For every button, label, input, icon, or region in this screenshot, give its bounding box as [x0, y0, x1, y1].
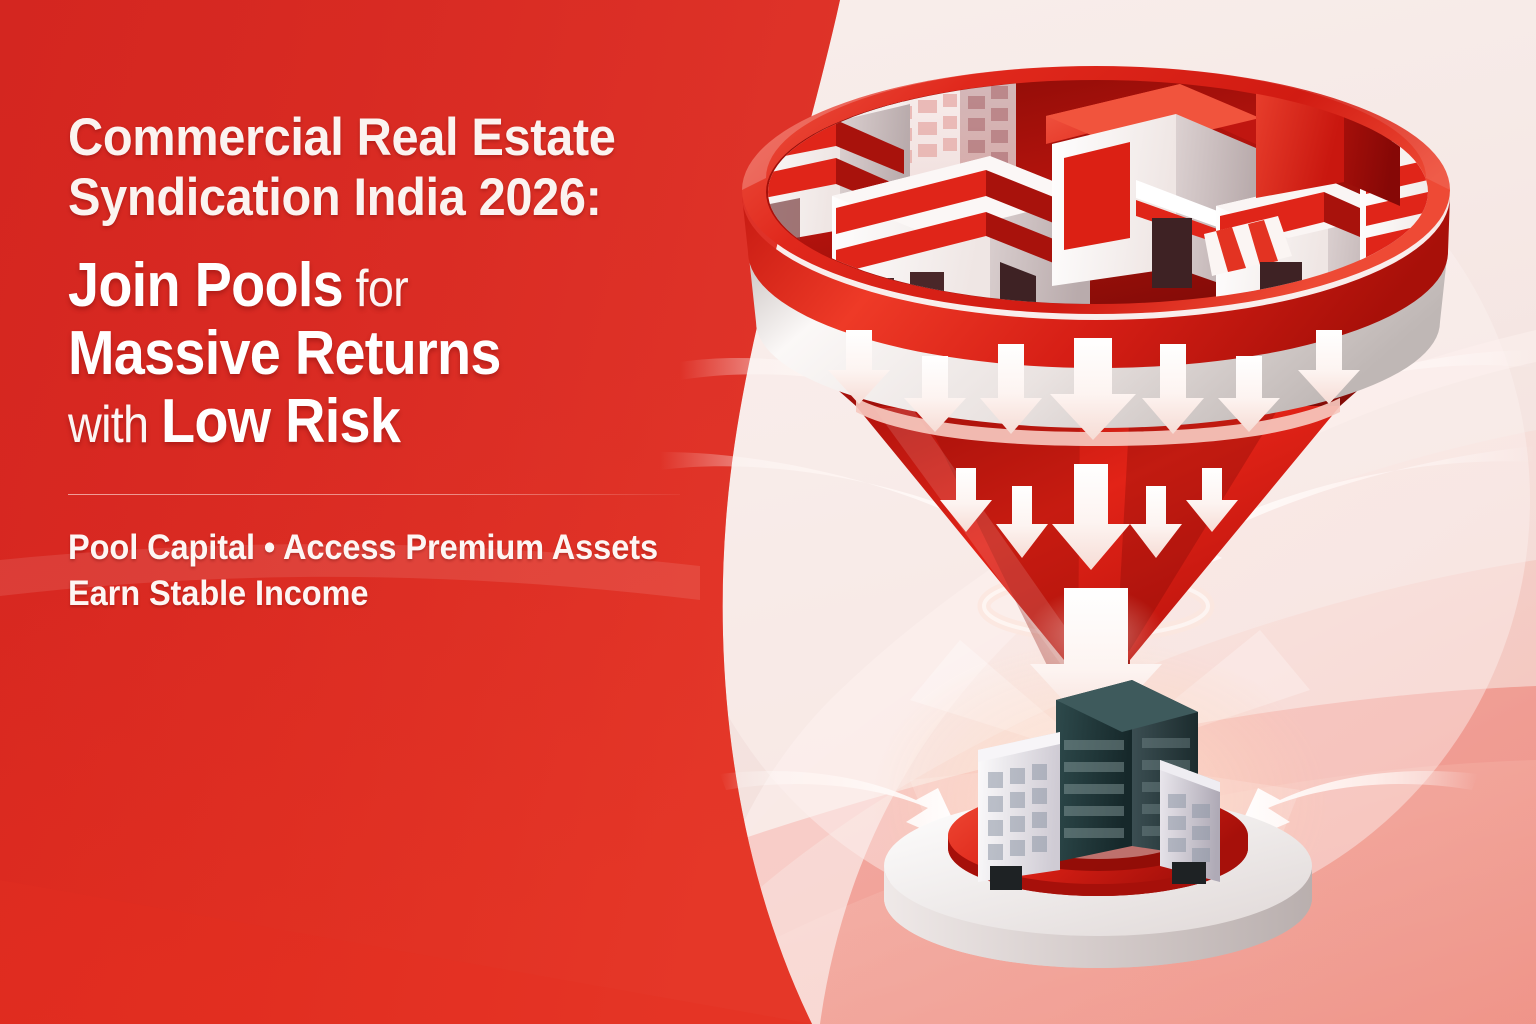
- headline-light-for: for: [356, 260, 408, 318]
- subtitle-block: Pool Capital • Access Premium Assets Ear…: [68, 525, 688, 616]
- headline-strong-massive-returns: Massive Returns: [68, 319, 501, 388]
- headline-strong-low-risk: Low Risk: [161, 387, 400, 456]
- subtitle-line-1: Pool Capital • Access Premium Assets: [68, 525, 645, 571]
- investment-funnel-illustration: [660, 0, 1536, 1024]
- headline-strong-join-pools: Join Pools: [68, 251, 343, 320]
- eyebrow-line-1: Commercial Real Estate: [68, 108, 638, 168]
- headline-line-2: Massive Returns: [68, 320, 626, 388]
- headline-line-1: Join Poolsfor: [68, 252, 626, 320]
- headline-block: Commercial Real Estate Syndication India…: [68, 108, 688, 616]
- headline-line-3: withLow Risk: [68, 388, 626, 456]
- headline-divider: [68, 494, 680, 495]
- subtitle-line-2: Earn Stable Income: [68, 571, 645, 617]
- banner-canvas: Commercial Real Estate Syndication India…: [0, 0, 1536, 1024]
- main-headline: Join Poolsfor Massive Returns withLow Ri…: [68, 252, 626, 457]
- eyebrow-line-2: Syndication India 2026:: [68, 168, 638, 228]
- headline-light-with: with: [68, 396, 148, 454]
